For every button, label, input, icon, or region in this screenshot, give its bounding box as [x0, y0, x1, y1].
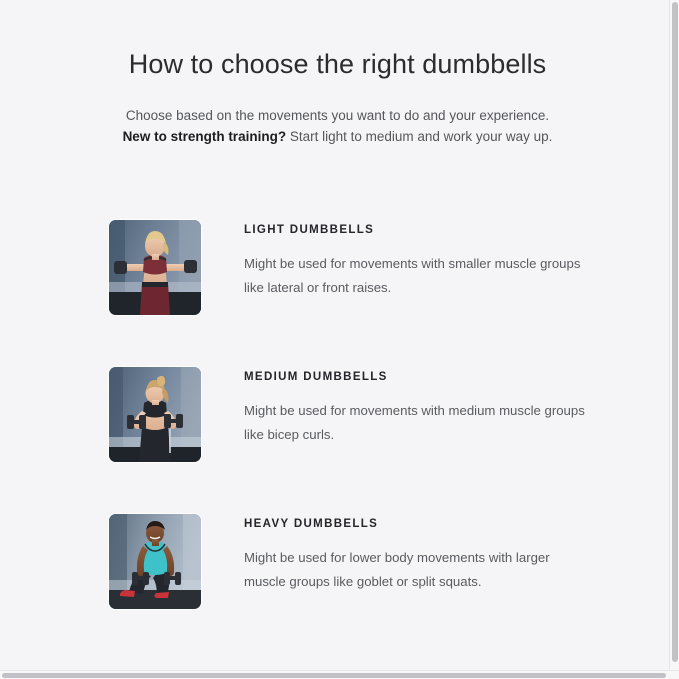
- feature-description: Might be used for movements with medium …: [244, 385, 589, 447]
- hero-subtitle-line1: Choose based on the movements you want t…: [126, 108, 549, 123]
- feature-text-block: LIGHT DUMBBELLS Might be used for moveme…: [201, 220, 589, 300]
- page-canvas: How to choose the right dumbbells Choose…: [0, 0, 669, 670]
- woman-bicep-curl-photo: [109, 367, 201, 462]
- feature-description: Might be used for lower body movements w…: [244, 532, 589, 594]
- vertical-scrollbar-thumb[interactable]: [672, 2, 678, 662]
- feature-heading: HEAVY DUMBBELLS: [244, 517, 589, 532]
- hero-section: How to choose the right dumbbells Choose…: [0, 0, 669, 147]
- horizontal-scrollbar[interactable]: [0, 670, 679, 679]
- list-item: LIGHT DUMBBELLS Might be used for moveme…: [0, 220, 669, 315]
- list-item: HEAVY DUMBBELLS Might be used for lower …: [0, 514, 669, 609]
- dumbbell-options-list: LIGHT DUMBBELLS Might be used for moveme…: [0, 220, 669, 609]
- photo-artwork: [109, 220, 201, 315]
- photo-artwork: [109, 514, 201, 609]
- hero-subtitle: Choose based on the movements you want t…: [0, 81, 669, 147]
- horizontal-scrollbar-thumb[interactable]: [2, 673, 666, 678]
- feature-heading: MEDIUM DUMBBELLS: [244, 370, 589, 385]
- woman-lateral-raise-photo: [109, 220, 201, 315]
- feature-text-block: MEDIUM DUMBBELLS Might be used for movem…: [201, 367, 589, 447]
- feature-description: Might be used for movements with smaller…: [244, 238, 589, 300]
- man-split-squat-photo: [109, 514, 201, 609]
- feature-heading: LIGHT DUMBBELLS: [244, 223, 589, 238]
- feature-text-block: HEAVY DUMBBELLS Might be used for lower …: [201, 514, 589, 594]
- list-item: MEDIUM DUMBBELLS Might be used for movem…: [0, 367, 669, 462]
- hero-subtitle-lead: New to strength training?: [123, 129, 287, 144]
- vertical-scrollbar[interactable]: [669, 0, 679, 670]
- hero-subtitle-rest: Start light to medium and work your way …: [286, 129, 552, 144]
- photo-artwork: [109, 367, 201, 462]
- page-title: How to choose the right dumbbells: [0, 47, 669, 81]
